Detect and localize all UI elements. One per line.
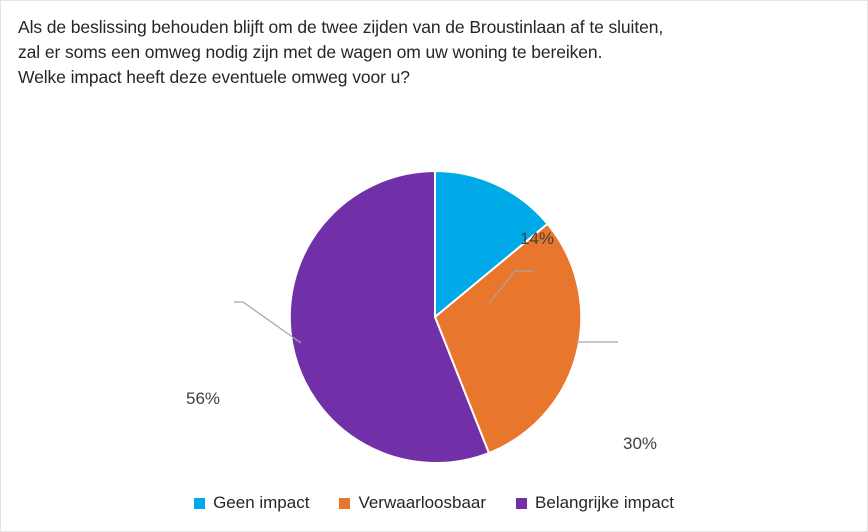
pie-chart-plot-area: 14% 30% 56% <box>1 101 867 481</box>
legend-item-label: Belangrijke impact <box>535 493 674 513</box>
data-label-geen-impact: 14% <box>520 229 554 249</box>
legend-swatch-icon <box>194 498 205 509</box>
chart-legend: Geen impact Verwaarloosbaar Belangrijke … <box>1 493 867 513</box>
legend-item-verwaarloosbaar[interactable]: Verwaarloosbaar <box>339 493 486 513</box>
data-label-belangrijke-impact: 56% <box>186 389 220 409</box>
legend-item-geen-impact[interactable]: Geen impact <box>194 493 309 513</box>
legend-item-label: Geen impact <box>213 493 309 513</box>
legend-swatch-icon <box>339 498 350 509</box>
legend-item-belangrijke-impact[interactable]: Belangrijke impact <box>516 493 674 513</box>
legend-swatch-icon <box>516 498 527 509</box>
pie-chart-svg <box>1 101 867 481</box>
data-label-verwaarloosbaar: 30% <box>623 434 657 454</box>
legend-item-label: Verwaarloosbaar <box>358 493 486 513</box>
page-title: Als de beslissing behouden blijft om de … <box>18 15 828 90</box>
chart-card: Als de beslissing behouden blijft om de … <box>0 0 868 532</box>
